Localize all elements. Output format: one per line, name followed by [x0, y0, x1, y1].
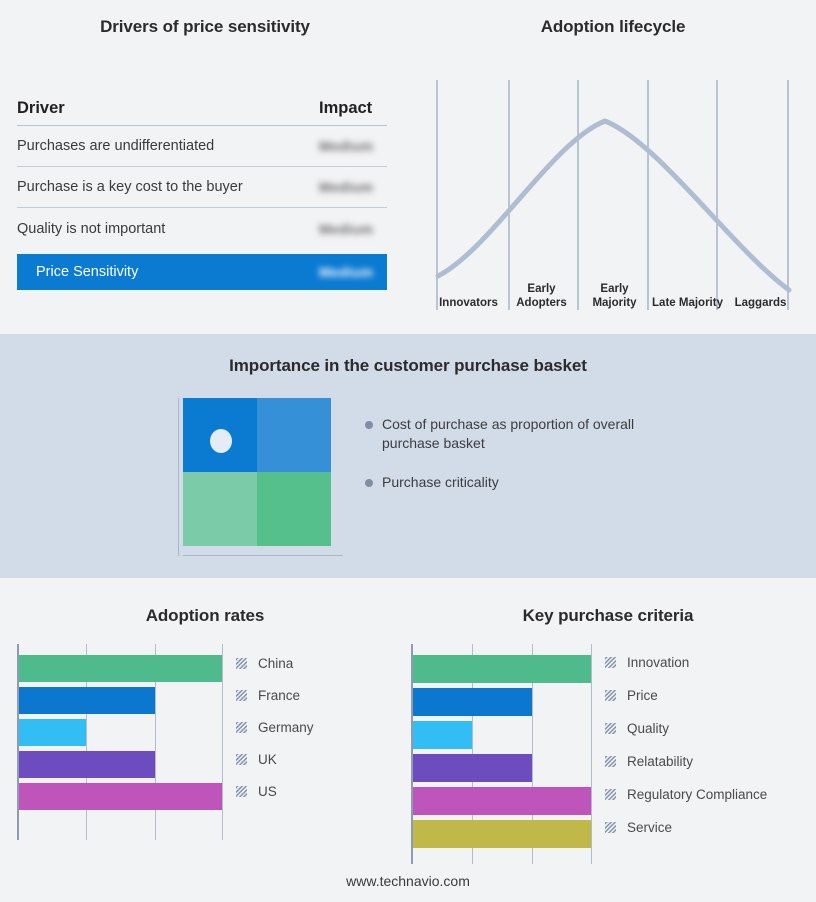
price-sensitivity-summary-row: Price Sensitivity Medium: [17, 254, 387, 290]
legend-item: China: [236, 647, 396, 679]
drivers-panel: Drivers of price sensitivity Driver Impa…: [0, 0, 410, 334]
legend-label: China: [258, 656, 293, 671]
quadrant-y-axis: [178, 398, 179, 556]
key-purchase-criteria-title: Key purchase criteria: [400, 606, 816, 626]
lifecycle-segment-early-majority: Early Majority: [578, 272, 651, 312]
impact-value: Medium: [319, 138, 387, 154]
quadrant-bottom-left: [183, 472, 257, 546]
legend-item: Germany: [236, 711, 396, 743]
adoption-lifecycle-panel: Adoption lifecycle Innovators Early Adop…: [410, 0, 816, 334]
lifecycle-segment-late-majority: Late Majority: [651, 272, 724, 312]
legend-label: Regulatory Compliance: [627, 787, 767, 802]
table-header-row: Driver Impact: [17, 92, 387, 126]
lifecycle-segment-early-adopters: Early Adopters: [505, 272, 578, 312]
footer-url: www.technavio.com: [0, 873, 816, 889]
legend-swatch-icon: [605, 723, 616, 734]
legend-label: Cost of purchase as proportion of overal…: [382, 415, 665, 453]
legend-swatch-icon: [605, 822, 616, 833]
legend-item: Innovation: [605, 646, 805, 679]
legend-swatch-icon: [605, 789, 616, 800]
adoption-rates-panel: Adoption rates ChinaFranceGermanyUKUS: [0, 578, 410, 902]
drivers-table: Driver Impact Purchases are undifferenti…: [17, 92, 387, 290]
legend-swatch-icon: [605, 657, 616, 668]
legend-label: US: [258, 784, 277, 799]
legend-label: Germany: [258, 720, 314, 735]
table-row: Purchase is a key cost to the buyer Medi…: [17, 167, 387, 208]
bar-price: [413, 688, 532, 716]
bar-germany: [19, 719, 86, 746]
summary-label: Price Sensitivity: [36, 264, 138, 280]
chart-gridline: [222, 644, 223, 840]
lifecycle-segment-labels: Innovators Early Adopters Early Majority…: [432, 272, 797, 312]
legend-label: France: [258, 688, 300, 703]
basket-title: Importance in the customer purchase bask…: [0, 356, 816, 376]
bar-us: [19, 783, 222, 810]
bar-quality: [413, 721, 472, 749]
bullet-dot-icon: [365, 421, 373, 429]
quadrant-bottom-right: [257, 472, 331, 546]
quadrant-chart: [183, 398, 331, 546]
drivers-title: Drivers of price sensitivity: [0, 17, 410, 37]
legend-label: Price: [627, 688, 658, 703]
legend-item: Quality: [605, 712, 805, 745]
quadrant-grid: [183, 398, 331, 546]
impact-value: Medium: [319, 179, 387, 195]
legend-label: Service: [627, 820, 672, 835]
bar-innovation: [413, 655, 591, 683]
legend-label: Quality: [627, 721, 669, 736]
legend-item: Service: [605, 811, 805, 844]
legend-swatch-icon: [605, 756, 616, 767]
impact-value: Medium: [319, 221, 387, 237]
legend-item: Price: [605, 679, 805, 712]
quadrant-position-marker: [210, 429, 232, 453]
driver-label: Purchases are undifferentiated: [17, 138, 214, 154]
legend-swatch-icon: [605, 690, 616, 701]
bar-relatability: [413, 754, 532, 782]
table-row: Purchases are undifferentiated Medium: [17, 126, 387, 167]
legend-item: Cost of purchase as proportion of overal…: [365, 415, 665, 453]
legend-label: Purchase criticality: [382, 473, 499, 492]
lifecycle-segment-laggards: Laggards: [724, 272, 797, 312]
lifecycle-title: Adoption lifecycle: [410, 17, 816, 37]
driver-label: Quality is not important: [17, 221, 165, 237]
legend-label: Relatability: [627, 754, 693, 769]
legend-label: UK: [258, 752, 277, 767]
driver-label: Purchase is a key cost to the buyer: [17, 179, 243, 195]
summary-impact-value: Medium: [319, 264, 387, 280]
basket-legend: Cost of purchase as proportion of overal…: [365, 415, 665, 512]
table-row: Quality is not important Medium: [17, 208, 387, 249]
legend-swatch-icon: [236, 658, 247, 669]
quadrant-top-right: [257, 398, 331, 472]
bar-regulatory-compliance: [413, 787, 591, 815]
adoption-rates-chart: [17, 644, 222, 844]
bar-france: [19, 687, 155, 714]
bar-china: [19, 655, 222, 682]
bullet-dot-icon: [365, 479, 373, 487]
legend-swatch-icon: [236, 690, 247, 701]
legend-swatch-icon: [236, 754, 247, 765]
bar-service: [413, 820, 591, 848]
adoption-rates-title: Adoption rates: [0, 606, 410, 626]
bell-curve-path: [438, 121, 789, 290]
bar-uk: [19, 751, 155, 778]
lifecycle-segment-innovators: Innovators: [432, 272, 505, 312]
legend-item: Regulatory Compliance: [605, 778, 805, 811]
chart-gridline: [591, 644, 592, 864]
adoption-rates-plot-area: [17, 644, 222, 844]
legend-swatch-icon: [236, 722, 247, 733]
legend-item: UK: [236, 743, 396, 775]
legend-item: Purchase criticality: [365, 473, 665, 492]
legend-swatch-icon: [236, 786, 247, 797]
legend-label: Innovation: [627, 655, 689, 670]
legend-item: US: [236, 775, 396, 807]
column-header-impact: Impact: [319, 99, 387, 118]
legend-item: France: [236, 679, 396, 711]
key-purchase-criteria-plot-area: [411, 644, 591, 866]
column-header-driver: Driver: [17, 99, 65, 118]
key-purchase-criteria-legend: InnovationPriceQualityRelatabilityRegula…: [605, 646, 805, 844]
quadrant-x-axis: [183, 555, 343, 556]
adoption-rates-legend: ChinaFranceGermanyUKUS: [236, 647, 396, 807]
key-purchase-criteria-panel: Key purchase criteria InnovationPriceQua…: [400, 578, 816, 902]
legend-item: Relatability: [605, 745, 805, 778]
key-purchase-criteria-chart: [411, 644, 591, 866]
